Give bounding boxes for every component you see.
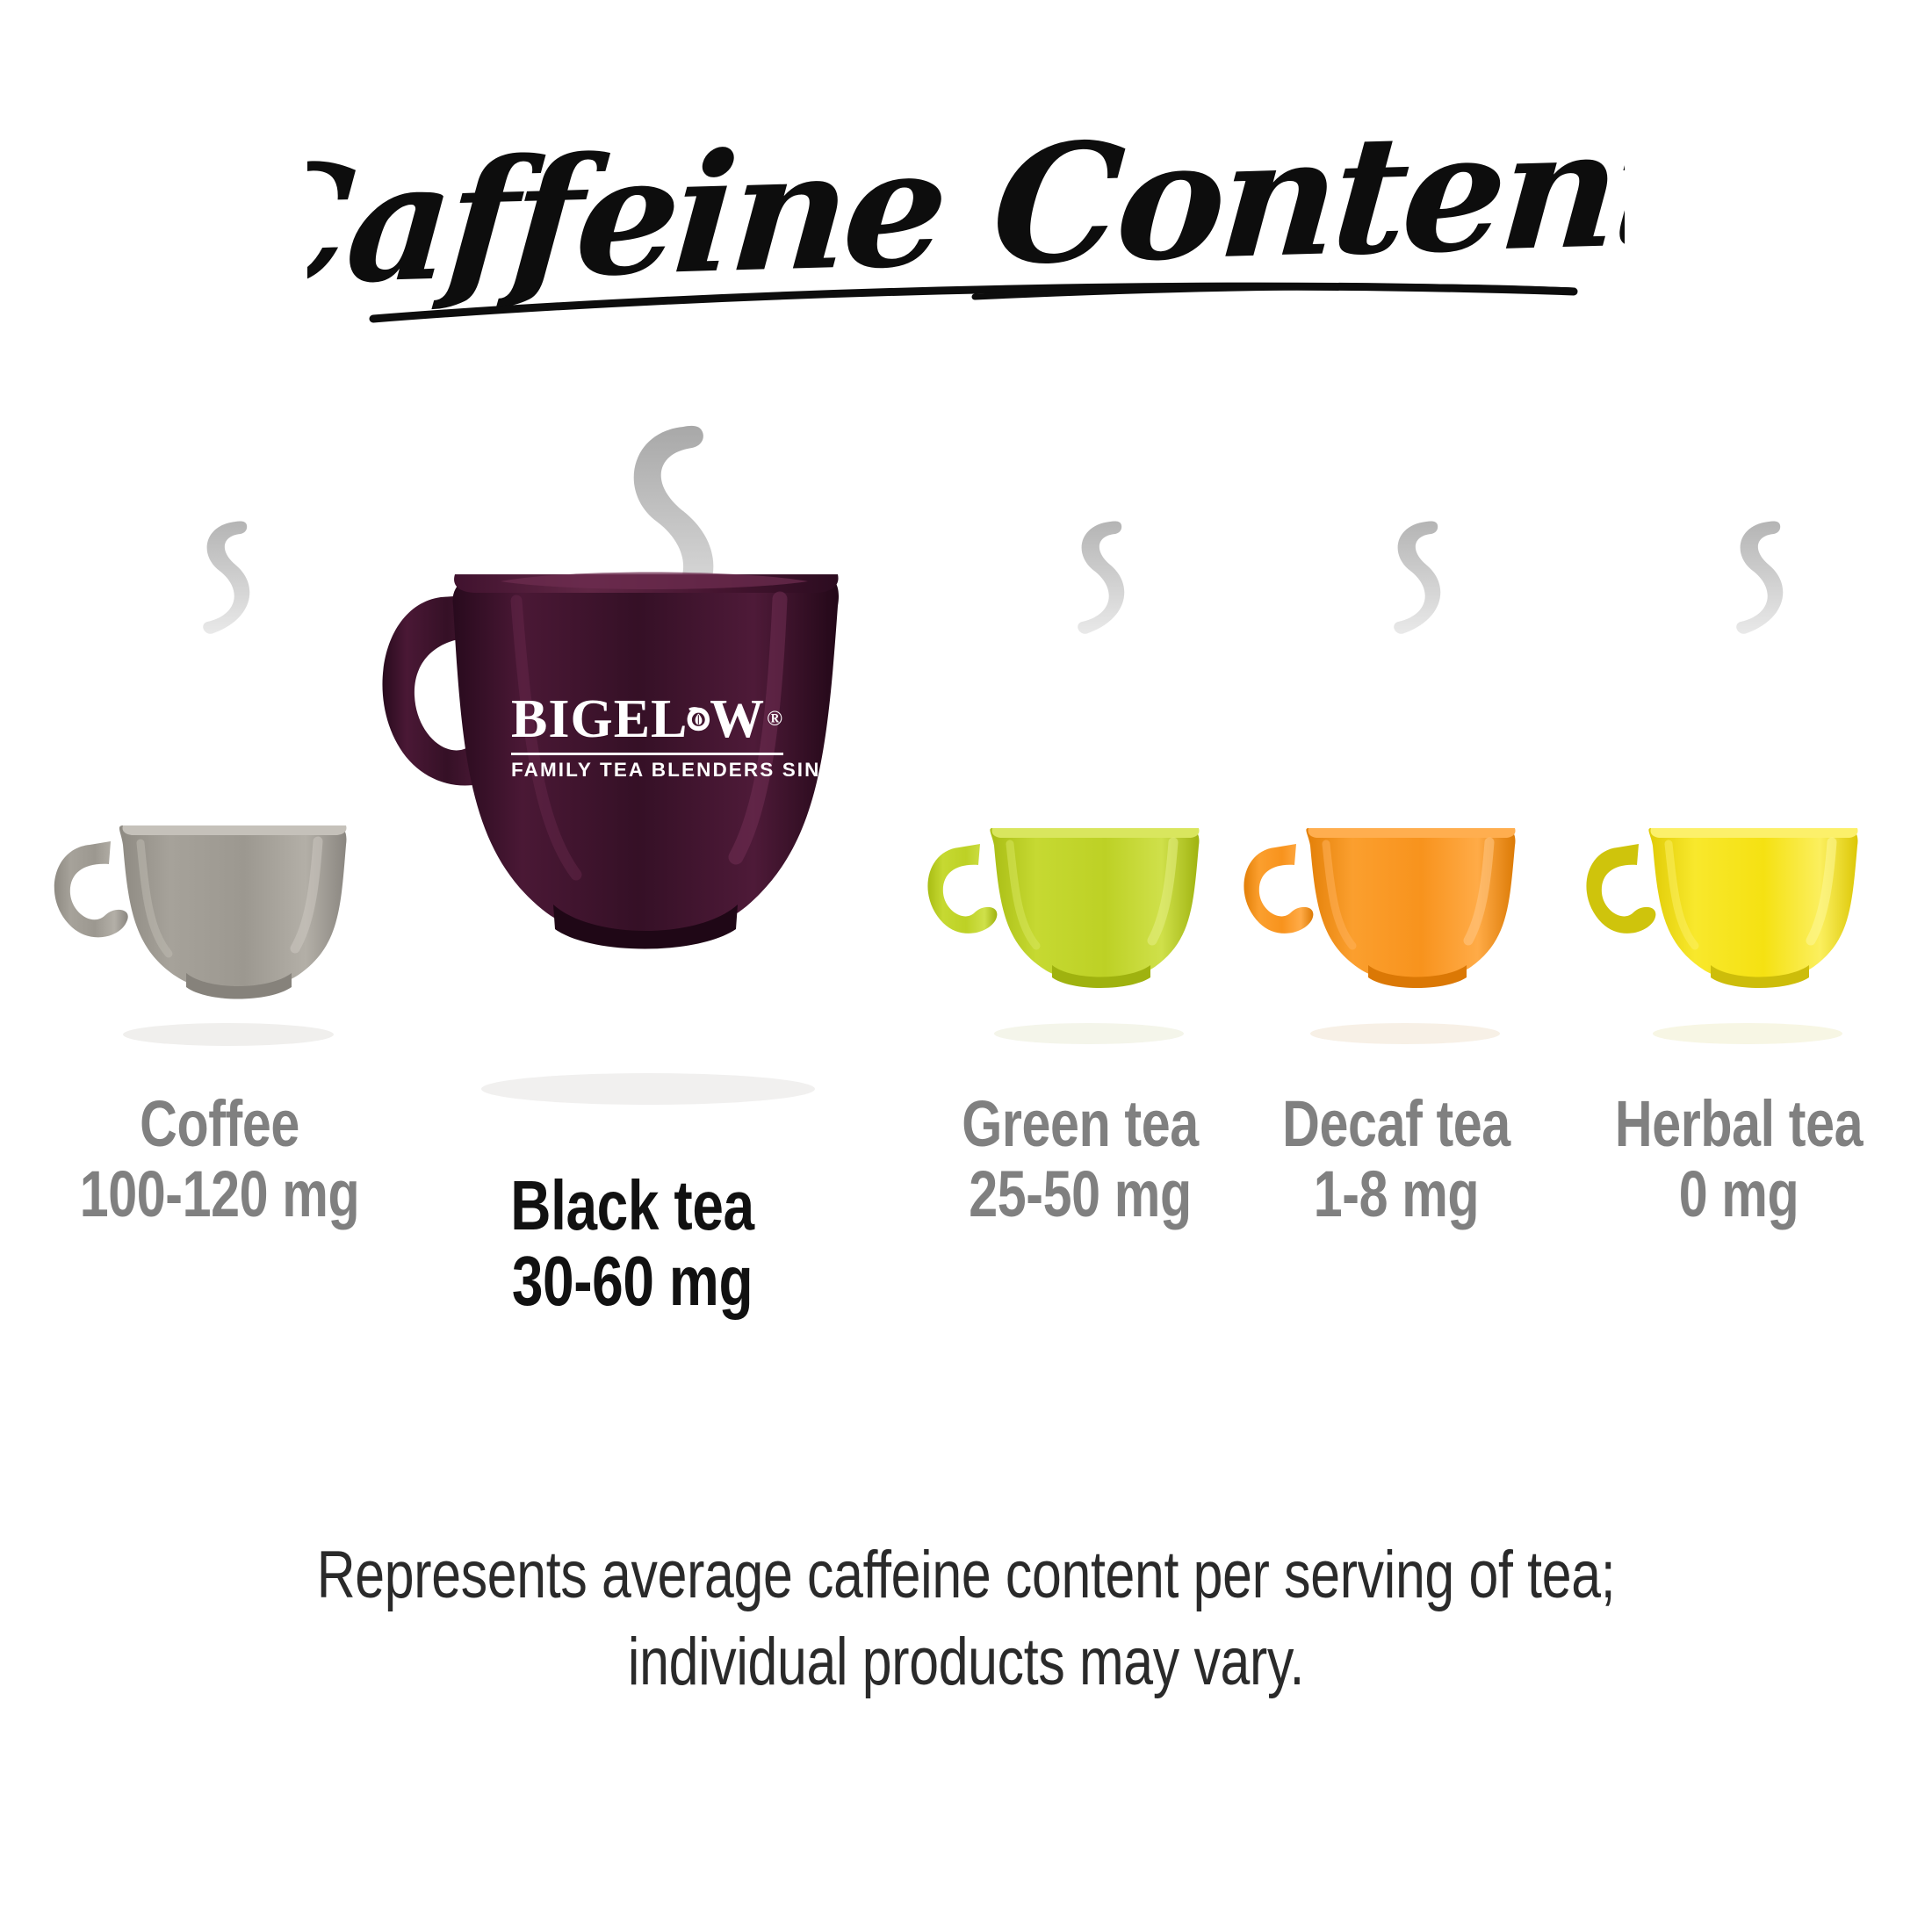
caption-coffee-amount: 100-120 mg xyxy=(65,1159,374,1229)
infographic-canvas: Caffeine Content xyxy=(0,0,1932,1932)
cup-herbal-tea xyxy=(1572,804,1906,1067)
caption-black-tea-amount: 30-60 mg xyxy=(464,1244,801,1319)
cup-comparison-row: Coffee 100-120 mg xyxy=(0,562,1932,1440)
caption-decaf-tea: Decaf tea 1-8 mg xyxy=(1249,1089,1544,1229)
cup-group-decaf-tea: Decaf tea 1-8 mg xyxy=(1229,562,1563,1440)
caption-herbal-tea-amount: 0 mg xyxy=(1591,1159,1886,1229)
cup-decaf-tea xyxy=(1229,804,1563,1067)
steam-icon-decaf-tea xyxy=(1359,509,1465,667)
cup-green-tea xyxy=(913,804,1247,1067)
cup-coffee xyxy=(35,799,404,1063)
caption-decaf-tea-amount: 1-8 mg xyxy=(1249,1159,1544,1229)
caption-decaf-tea-name: Decaf tea xyxy=(1249,1089,1544,1159)
caption-herbal-tea-name: Herbal tea xyxy=(1591,1089,1886,1159)
cup-group-black-tea: BIGEL W ® FAMILY TEA BLENDERS SINCE 1945… xyxy=(369,562,896,1440)
steam-icon-herbal-tea xyxy=(1702,509,1807,667)
cup-group-herbal-tea: Herbal tea 0 mg xyxy=(1572,562,1906,1440)
caption-green-tea-amount: 25-50 mg xyxy=(933,1159,1228,1229)
title-artwork: Caffeine Content xyxy=(307,105,1625,369)
caption-green-tea: Green tea 25-50 mg xyxy=(933,1089,1228,1229)
footnote-line-1: Represents average caffeine content per … xyxy=(193,1532,1739,1619)
caption-black-tea-name: Black tea xyxy=(464,1168,801,1244)
footnote-line-2: individual products may vary. xyxy=(193,1619,1739,1706)
footnote: Represents average caffeine content per … xyxy=(0,1532,1932,1706)
page-title: Caffeine Content xyxy=(0,105,1932,386)
caption-coffee: Coffee 100-120 mg xyxy=(65,1089,374,1229)
steam-icon-coffee xyxy=(169,509,274,667)
caption-green-tea-name: Green tea xyxy=(933,1089,1228,1159)
cup-black-tea xyxy=(369,562,896,1124)
caption-black-tea: Black tea 30-60 mg xyxy=(464,1168,801,1320)
cup-group-coffee: Coffee 100-120 mg xyxy=(35,562,404,1440)
steam-icon-green-tea xyxy=(1043,509,1149,667)
cup-group-green-tea: Green tea 25-50 mg xyxy=(913,562,1247,1440)
caption-herbal-tea: Herbal tea 0 mg xyxy=(1591,1089,1886,1229)
caption-coffee-name: Coffee xyxy=(65,1089,374,1159)
